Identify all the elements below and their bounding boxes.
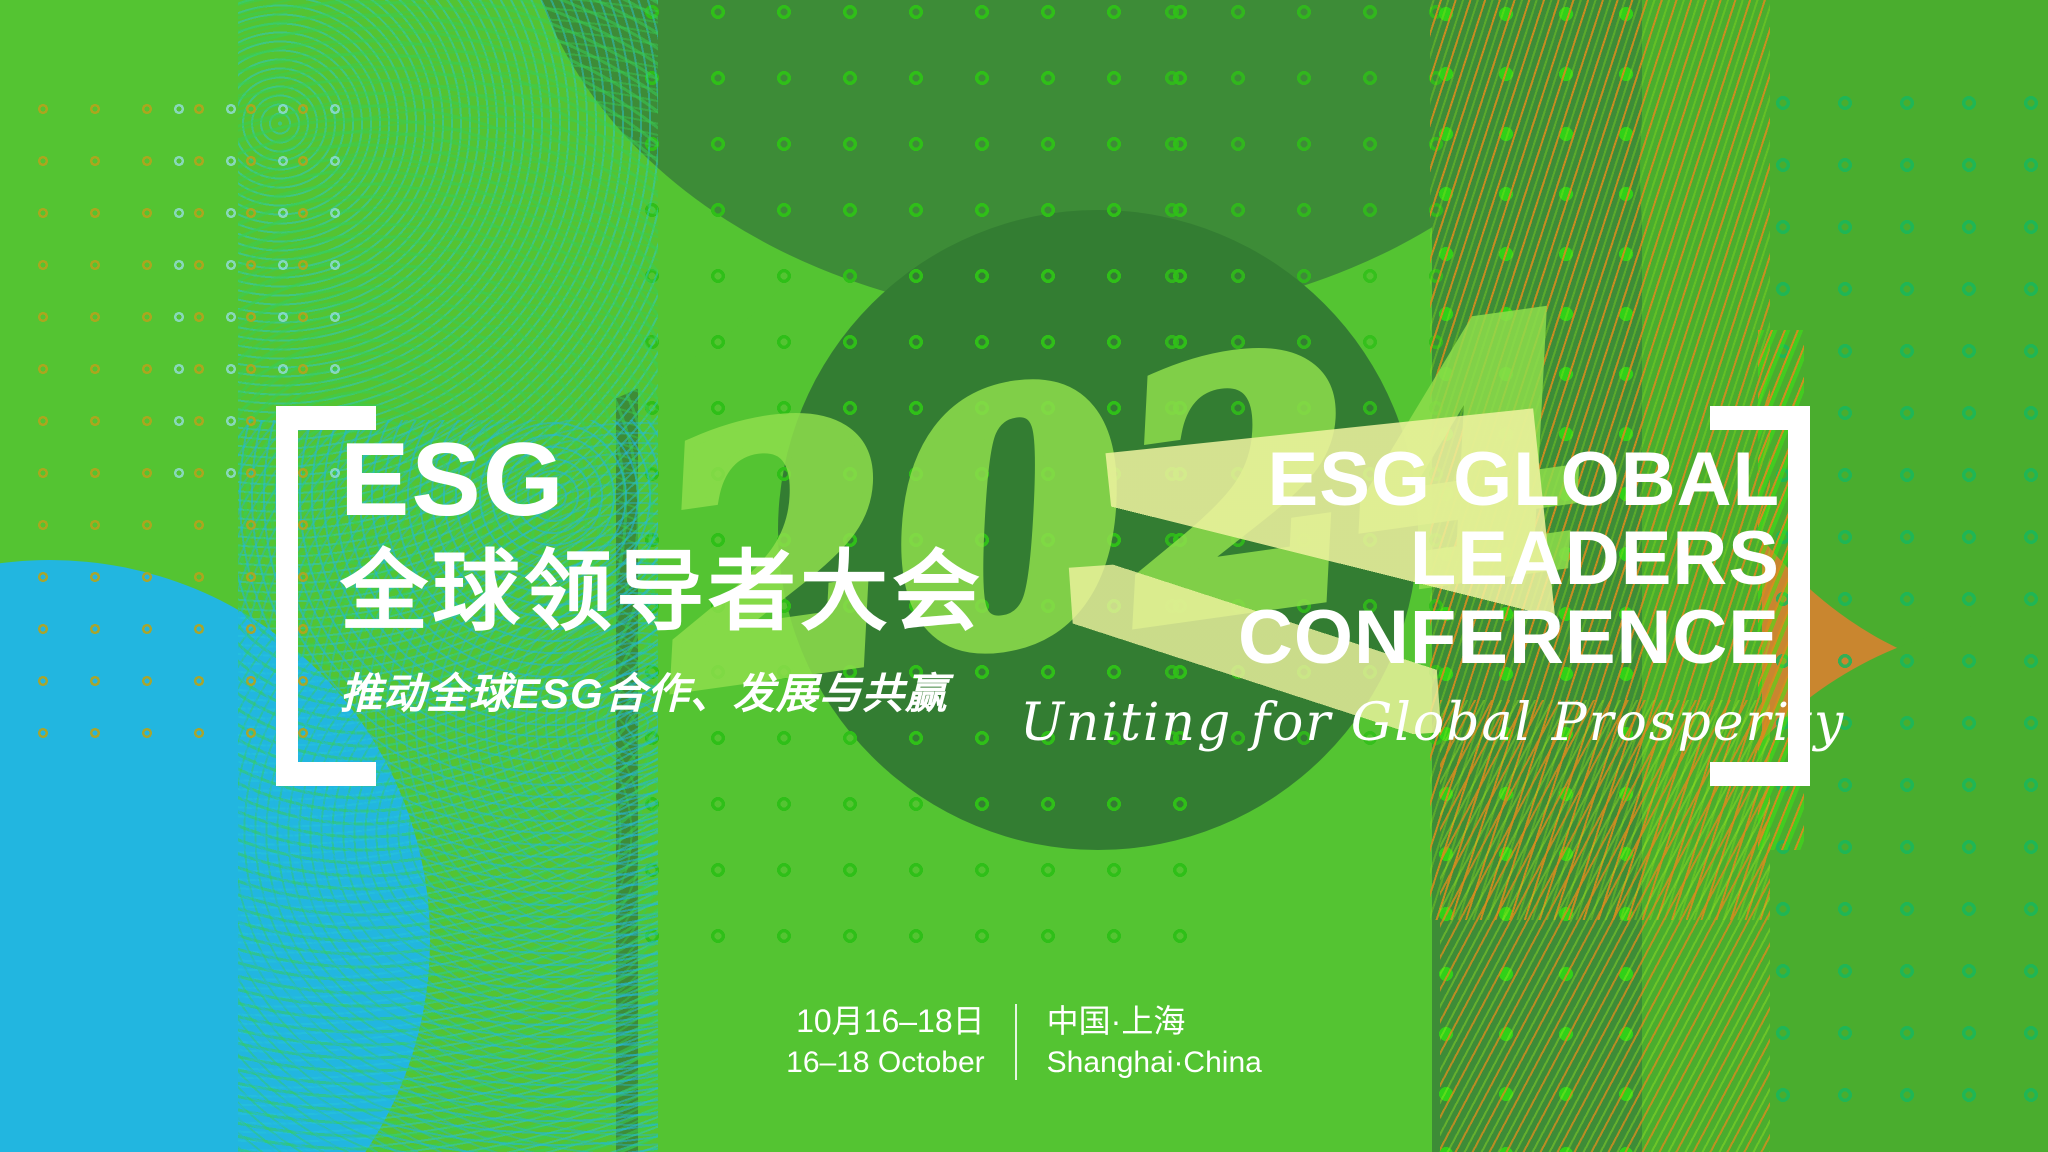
conference-banner: 2024 ESG 全球领导者大会 推动全球ESG合作、发展与共赢 ESG GLO… <box>0 0 2048 1152</box>
date-english: 16–18 October <box>786 1043 984 1084</box>
dot-pattern-far-right <box>1770 90 2048 1150</box>
bracket-right-top-arm <box>1710 406 1810 430</box>
bracket-left-bottom-arm <box>276 762 376 786</box>
date-group: 10月16–18日 16–18 October <box>786 1000 984 1084</box>
location-english: Shanghai·China <box>1047 1043 1262 1084</box>
english-title-line-1: ESG GLOBAL <box>1020 440 1780 519</box>
footer-divider <box>1015 1004 1017 1080</box>
conference-subtitle-cn: 推动全球ESG合作、发展与共赢 <box>340 660 1060 721</box>
chinese-title-block: ESG 全球领导者大会 推动全球ESG合作、发展与共赢 <box>340 428 1060 721</box>
english-title-line-3: CONFERENCE <box>1020 598 1780 677</box>
esg-wordmark-left: ESG <box>340 428 1060 532</box>
bracket-left-stem <box>276 406 298 786</box>
location-group: 中国·上海 Shanghai·China <box>1047 1000 1262 1084</box>
bracket-right-bottom-arm <box>1710 762 1810 786</box>
english-title-line-2: LEADERS <box>1020 519 1780 598</box>
english-tagline: Uniting for Global Prosperity <box>1020 693 1780 753</box>
date-chinese: 10月16–18日 <box>786 1000 984 1043</box>
english-title-block: ESG GLOBAL LEADERS CONFERENCE Uniting fo… <box>1020 440 1780 753</box>
footer-info: 10月16–18日 16–18 October 中国·上海 Shanghai·C… <box>0 1000 2048 1084</box>
conference-title-cn: 全球领导者大会 <box>340 546 1060 638</box>
location-chinese: 中国·上海 <box>1047 1000 1262 1043</box>
